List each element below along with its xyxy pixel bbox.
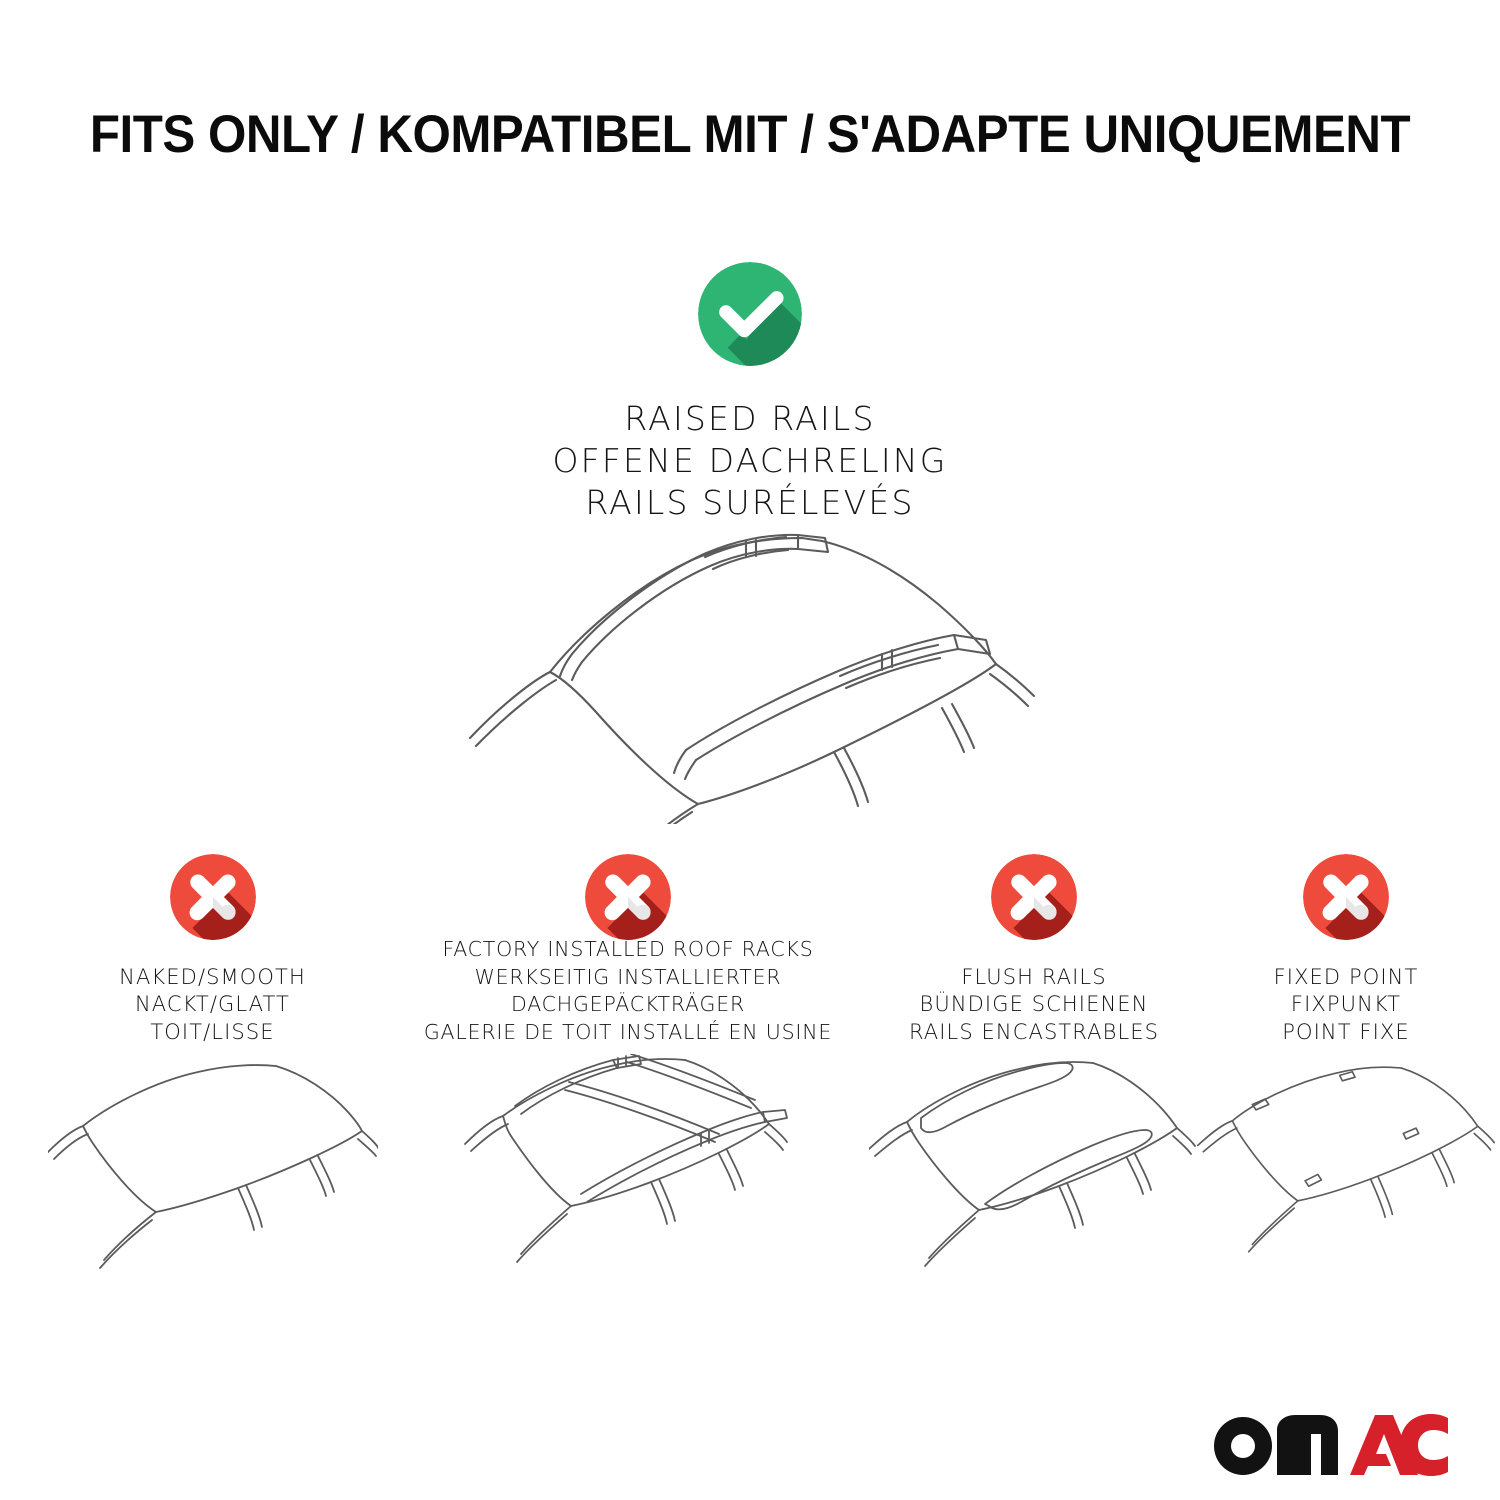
x-circle-icon — [585, 854, 671, 940]
incompatible-label-fixed-point: FIXED POINT FIXPUNKT POINT FIXE — [1196, 954, 1496, 1046]
label-line-3: TOIT/LISSE — [150, 1019, 274, 1047]
label-line-2: WERKSEITIG INSTALLIERTER — [475, 964, 782, 992]
x-circle-icon — [1303, 854, 1389, 940]
label-line-2: BÜNDIGE SCHIENEN — [920, 991, 1149, 1019]
compatible-label-line-1: RAISED RAILS — [0, 398, 1500, 440]
incompatible-column-naked-smooth: NAKED/SMOOTH NACKT/GLATT TOIT/LISSE — [40, 846, 385, 1466]
omac-logo — [1212, 1412, 1448, 1476]
illustration-flush-rails — [866, 1054, 1202, 1284]
title-bar: FITS ONLY / KOMPATIBEL MIT / S'ADAPTE UN… — [0, 104, 1500, 165]
label-line-2: NACKT/GLATT — [135, 991, 290, 1019]
label-line-2: FIXPUNKT — [1291, 991, 1401, 1019]
illustration-naked-smooth — [40, 1054, 385, 1284]
label-line-1: NAKED/SMOOTH — [119, 964, 306, 992]
label-line-1: FACTORY INSTALLED ROOF RACKS — [442, 936, 813, 964]
omac-logo-letter-m — [1277, 1415, 1338, 1475]
x-circle-icon — [991, 854, 1077, 940]
compatible-illustration — [0, 494, 1500, 824]
incompatible-column-fixed-point: FIXED POINT FIXPUNKT POINT FIXE — [1196, 846, 1496, 1466]
label-line-1: FIXED POINT — [1274, 964, 1419, 992]
label-line-3: POINT FIXE — [1282, 1019, 1410, 1047]
compatible-section: RAISED RAILS OFFENE DACHRELING RAILS SUR… — [0, 262, 1500, 524]
check-circle-icon — [698, 262, 802, 366]
incompatible-column-flush-rails: FLUSH RAILS BÜNDIGE SCHIENEN RAILS ENCAS… — [866, 846, 1202, 1466]
illustration-fixed-point — [1196, 1054, 1496, 1284]
incompatible-label-factory-roof-racks: FACTORY INSTALLED ROOF RACKS WERKSEITIG … — [388, 954, 868, 1046]
label-line-3: RAILS ENCASTRABLES — [909, 1019, 1159, 1047]
incompatible-label-naked-smooth: NAKED/SMOOTH NACKT/GLATT TOIT/LISSE — [40, 954, 385, 1046]
page-title: FITS ONLY / KOMPATIBEL MIT / S'ADAPTE UN… — [53, 104, 1448, 165]
incompatible-label-flush-rails: FLUSH RAILS BÜNDIGE SCHIENEN RAILS ENCAS… — [866, 954, 1202, 1046]
label-line-3: DACHGEPÄCKTRÄGER — [511, 991, 745, 1019]
label-line-4: GALERIE DE TOIT INSTALLÉ EN USINE — [424, 1019, 832, 1047]
compatible-label-line-2: OFFENE DACHRELING — [0, 440, 1500, 482]
omac-logo-letter-o — [1214, 1417, 1272, 1475]
incompatible-column-factory-roof-racks: FACTORY INSTALLED ROOF RACKS WERKSEITIG … — [388, 846, 868, 1466]
infographic-page: FITS ONLY / KOMPATIBEL MIT / S'ADAPTE UN… — [0, 0, 1500, 1500]
label-line-1: FLUSH RAILS — [961, 964, 1106, 992]
illustration-factory-roof-racks — [388, 1054, 868, 1284]
x-circle-icon — [170, 854, 256, 940]
incompatible-grid: NAKED/SMOOTH NACKT/GLATT TOIT/LISSE — [0, 846, 1500, 1466]
